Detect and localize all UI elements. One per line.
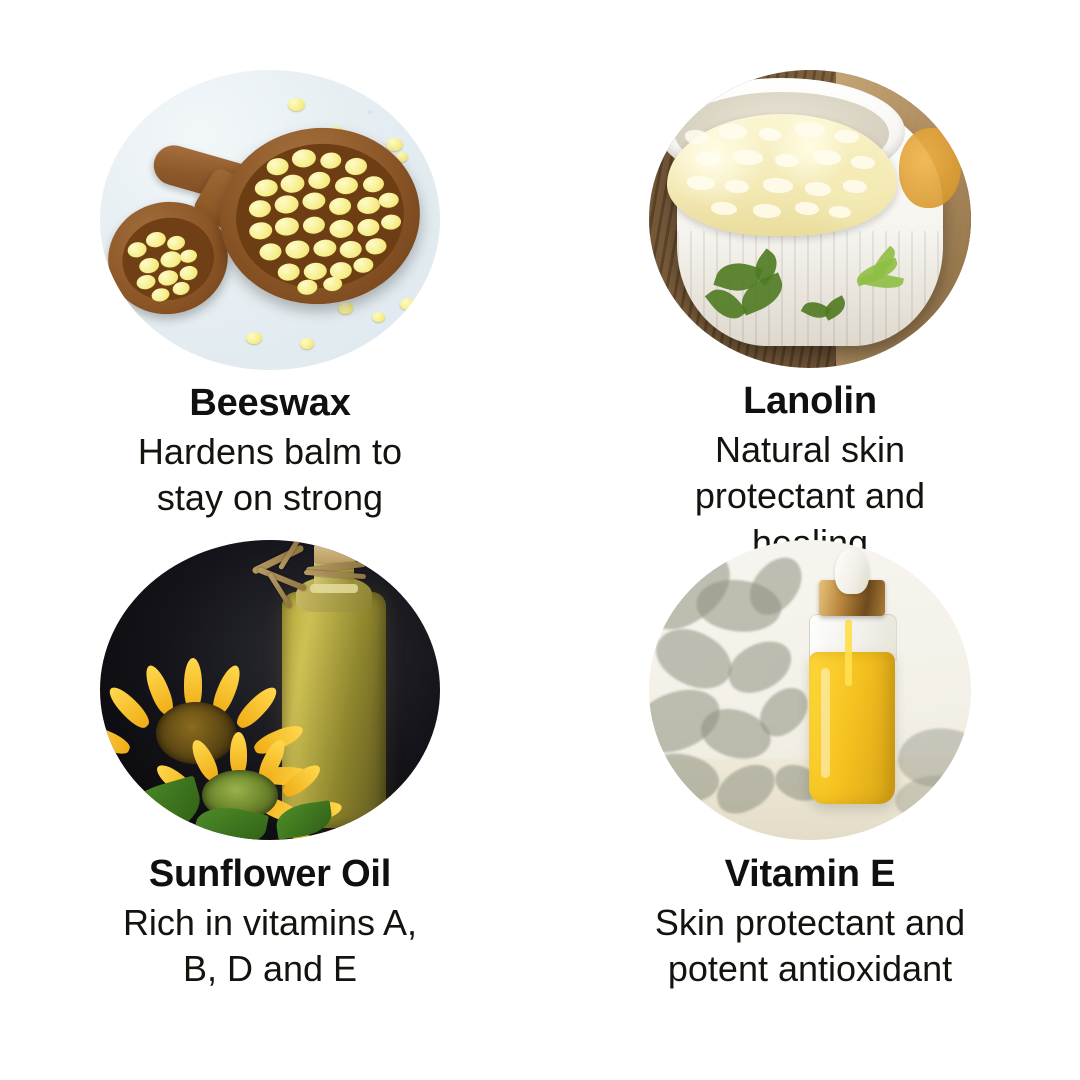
ingredient-description: Rich in vitamins A, B, D and E (123, 900, 417, 993)
lanolin-photo (649, 70, 971, 368)
glass-highlight (821, 668, 830, 778)
sunflower-oil-scene (100, 540, 440, 840)
sunflower-oil-photo (100, 540, 440, 840)
ingredient-card-beeswax: Beeswax Hardens balm to stay on strong (0, 0, 540, 540)
melted-oil-pool (899, 128, 961, 208)
oil-bottle-ring (310, 584, 358, 593)
ingredient-grid: Beeswax Hardens balm to stay on strong (0, 0, 1080, 1080)
ingredient-description: Skin protectant and potent antioxidant (655, 900, 965, 993)
ingredient-title: Vitamin E (725, 854, 896, 895)
beeswax-photo (100, 70, 440, 370)
ingredient-title: Beeswax (189, 383, 350, 424)
ingredient-description: Hardens balm to stay on strong (138, 429, 402, 522)
pipette-tube (845, 620, 852, 686)
vitamin-e-scene (649, 540, 971, 840)
ingredient-title: Sunflower Oil (149, 854, 391, 895)
lanolin-scene (649, 70, 971, 368)
dropper-bulb (835, 548, 869, 594)
ingredient-card-lanolin: Lanolin Natural skin protectant and heal… (540, 0, 1080, 540)
beeswax-scene (100, 70, 440, 370)
cork-stopper (314, 542, 356, 564)
ingredient-card-vitamin-e: Vitamin E Skin protectant and potent ant… (540, 540, 1080, 1080)
ingredient-card-sunflower-oil: Sunflower Oil Rich in vitamins A, B, D a… (0, 540, 540, 1080)
vitamin-e-photo (649, 540, 971, 840)
ingredient-title: Lanolin (743, 381, 877, 422)
